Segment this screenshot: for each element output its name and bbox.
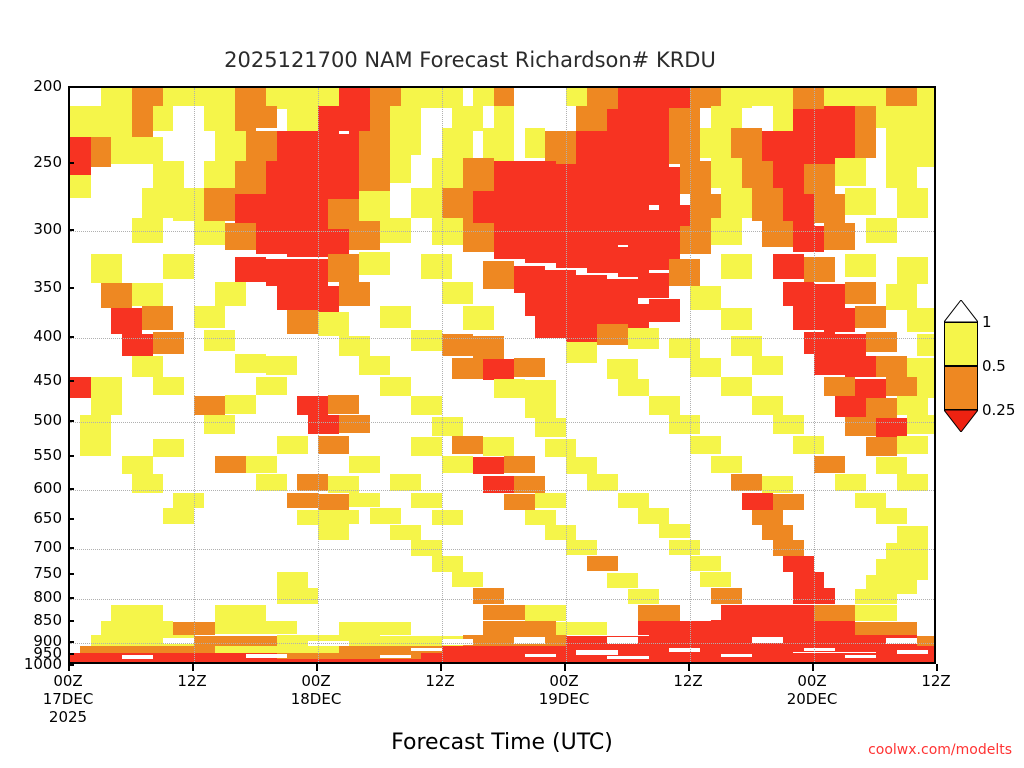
heatmap-cell [638,109,669,133]
heatmap-cell [886,161,917,188]
heatmap-cell [432,88,463,108]
heatmap-cell [638,273,669,299]
heatmap-cell [463,158,494,191]
heatmap-cell [793,226,824,252]
gridline-v [814,88,815,662]
heatmap-cell [897,474,928,491]
heatmap-cell [297,396,328,415]
heatmap-cell [866,332,897,352]
heatmap-cell [855,128,876,159]
heatmap-cell [690,436,721,455]
heatmap-cell [318,494,349,510]
x-tick-mark [68,664,70,671]
heatmap-cell [359,161,390,191]
heatmap-cell [897,436,928,455]
heatmap-cell [721,188,752,218]
heatmap-cell [690,556,721,571]
heatmap-cell [649,396,680,415]
heatmap-cell [359,252,390,275]
heatmap-cell [545,439,576,458]
heatmap-cell [566,88,587,106]
x-tick-mark [192,664,194,671]
heatmap-cell [649,88,690,109]
heatmap-cell [70,137,91,175]
heatmap-cell [773,415,804,434]
heatmap-cell [535,316,566,338]
heatmap-cell [700,128,731,159]
heatmap-cell [535,199,566,238]
heatmap-cell [514,266,545,293]
heatmap-cell [804,648,835,651]
heatmap-cell [91,106,112,137]
heatmap-cell [318,106,349,130]
y-tick-mark [68,573,74,575]
heatmap-cell [339,622,411,635]
heatmap-cell [525,234,556,264]
heatmap-cell [814,284,845,308]
y-tick-label: 450 [0,371,62,389]
heatmap-cell [731,128,762,162]
heatmap-cell [339,134,360,167]
heatmap-cell [566,540,597,555]
heatmap-cell [473,336,504,359]
heatmap-cell [473,457,504,474]
gridline-h [70,422,934,423]
heatmap-cell [762,221,793,248]
heatmap-cell [897,257,928,284]
heatmap-cell [711,158,742,188]
heatmap-cell [824,88,855,106]
heatmap-cell [773,106,794,130]
heatmap-cell [80,415,111,436]
heatmap-cell [587,556,618,571]
heatmap-cell [587,243,618,273]
heatmap-cell [390,474,421,491]
heatmap-cell [91,377,122,395]
heatmap-cell [308,131,339,165]
heatmap-cell [855,605,896,621]
heatmap-cell [421,254,452,279]
heatmap-cell [163,88,194,106]
heatmap-cell [855,106,876,127]
heatmap-cell [235,354,266,373]
heatmap-cell [576,106,607,130]
heatmap-cell [277,572,308,589]
gridline-h [70,549,934,550]
heatmap-cell [390,525,421,540]
heatmap-cell [669,415,700,434]
heatmap-cell [390,128,421,155]
heatmap-cell [752,510,783,525]
heatmap-cell [328,395,359,414]
heatmap-cell [669,540,700,555]
gridline-v [690,88,691,662]
y-tick-label: 600 [0,479,62,497]
heatmap-cell [349,221,380,250]
heatmap-cell [876,508,907,523]
heatmap-cell [411,493,442,509]
heatmap-cell [132,356,163,377]
heatmap-cell [845,655,876,658]
heatmap-cell [793,621,855,635]
y-tick-label: 550 [0,446,62,464]
heatmap-cell [432,158,463,188]
heatmap-cell [587,167,618,207]
heatmap-cell [845,417,876,436]
y-tick-mark [68,547,74,549]
heatmap-cell [370,508,401,523]
chart-title: 2025121700 NAM Forecast Richardson# KRDU [0,48,940,72]
heatmap-cell [587,474,618,491]
heatmap-cell [897,188,928,218]
heatmap-cell [886,377,917,396]
heatmap-cell [886,284,917,310]
heatmap-cell [101,621,173,635]
heatmap-cell [380,377,411,396]
legend-label-025: 0.25 [982,401,1015,419]
heatmap-cell [545,131,576,165]
heatmap-cell [752,356,783,375]
heatmap-cell [804,332,835,354]
heatmap-cell [721,605,762,621]
heatmap-cell [525,605,566,621]
x-axis-title: Forecast Time (UTC) [68,730,936,755]
heatmap-cell [256,474,287,491]
y-tick-label: 1000 [0,655,62,673]
heatmap-cell [442,456,473,473]
heatmap-cell [504,456,535,473]
heatmap-cell [153,106,174,130]
heatmap-cell [866,398,897,418]
heatmap-cell [318,312,349,336]
x-tick-mark [936,664,938,671]
heatmap-cell [514,358,545,377]
watermark: coolwx.com/modelts [868,742,1012,758]
heatmap-cell [793,306,824,330]
heatmap-cell [783,556,814,572]
y-tick-label: 500 [0,411,62,429]
y-tick-label: 850 [0,611,62,629]
heatmap-cell [339,415,370,433]
heatmap-cell [194,636,277,646]
heatmap-cell [783,282,814,307]
heatmap-cell [215,605,267,621]
gridline-h [70,643,934,644]
heatmap-cell [163,508,194,523]
heatmap-cell [742,161,773,188]
heatmap-cell [473,588,504,603]
x-tick-mark [316,664,318,671]
heatmap-cell [566,205,597,243]
heatmap-cell [669,648,700,652]
heatmap-cell [752,637,783,643]
heatmap-cell [380,306,411,328]
heatmap-cell [721,254,752,279]
gridline-v [194,88,195,662]
heatmap-cell [607,573,638,589]
y-tick-mark [68,336,74,338]
heatmap-cell [649,645,773,652]
gridline-h [70,231,934,232]
heatmap-cell [494,88,515,106]
heatmap-cell [328,510,359,524]
heatmap-cell [297,259,328,286]
heatmap-cell [287,310,318,334]
heatmap-cell [411,648,442,652]
x-tick-label: 12Z [425,672,454,690]
heatmap-cell [773,254,804,279]
heatmap-cell [814,456,845,473]
heatmap-cell [452,436,483,455]
heatmap-cell [142,306,173,330]
heatmap-cell [607,359,638,378]
heatmap-cell [401,88,432,108]
x-tick-label: 12Z [673,672,702,690]
heatmap-cell [256,377,287,395]
y-tick-mark [68,518,74,520]
heatmap-cell [680,226,711,254]
legend-swatch-05 [944,366,978,410]
heatmap-cell [266,259,297,286]
heatmap-cell [142,188,173,218]
heatmap-cell [793,109,824,136]
heatmap-cell [235,161,266,194]
heatmap-cell [204,188,235,220]
heatmap-cell [297,510,328,525]
heatmap-cell [824,106,855,130]
heatmap-cell [132,218,163,243]
y-tick-mark [68,287,74,289]
heatmap-cell [545,525,576,540]
heatmap-cell [70,106,91,137]
heatmap-cell [731,474,762,491]
y-tick-label: 750 [0,564,62,582]
heatmap-cell [669,259,700,286]
heatmap-cell [886,88,917,106]
heatmap-cell [432,510,463,525]
y-tick-mark [68,620,74,622]
x-tick-mark [440,664,442,671]
heatmap-cell [204,106,235,130]
heatmap-cell [752,188,783,220]
heatmap-cell [690,88,721,108]
heatmap-cell [597,207,628,245]
heatmap-cell [432,556,463,572]
heatmap-cell [618,88,649,109]
heatmap-cell [711,106,742,127]
heatmap-cell [122,655,153,658]
heatmap-cell [917,131,936,167]
heatmap-cell [463,223,494,252]
heatmap-cell [917,379,936,398]
heatmap-cell [452,358,483,379]
heatmap-cell [194,306,225,328]
heatmap-cell [287,493,318,509]
heatmap-cell [91,395,122,415]
heatmap-cell [494,229,525,259]
heatmap-cell [256,106,277,127]
color-legend: 1 0.5 0.25 [944,300,978,455]
heatmap-cell [111,308,142,334]
y-tick-mark [68,653,74,655]
heatmap-cell [897,650,928,654]
heatmap-cell [483,359,514,380]
heatmap-cell [225,395,256,414]
heatmap-cell [855,379,886,398]
heatmap-cell [370,88,401,106]
heatmap-cell [411,437,442,456]
heatmap-cell [917,636,936,646]
heatmap-cell [638,605,679,621]
x-tick-label: 00Z19DEC [539,672,590,708]
x-tick-label: 00Z20DEC [787,672,838,708]
heatmap-cell [153,439,184,458]
y-tick-mark [68,420,74,422]
heatmap-cell [855,589,896,604]
heatmap-cell [845,356,876,377]
plot-area [68,86,936,664]
heatmap-cell [907,308,936,332]
heatmap-cell [525,654,556,657]
heatmap-cell [618,493,649,509]
heatmap-cell [204,415,235,434]
heatmap-cell [359,191,390,221]
heatmap-cell [504,494,535,510]
heatmap-cell [897,396,928,415]
heatmap-cell [132,111,153,137]
heatmap-cell [163,254,194,279]
heatmap-cell [638,621,710,635]
gridline-h [70,490,934,491]
heatmap-cell [556,622,608,635]
heatmap-cell [297,161,328,196]
heatmap-cell [793,88,824,109]
heatmap-cell [463,306,494,330]
x-tick-label: 00Z17DEC2025 [43,672,94,726]
heatmap-cell [525,128,546,159]
heatmap-cell [132,137,163,164]
y-tick-mark [68,229,74,231]
heatmap-cell [855,306,886,328]
heatmap-cell [173,188,204,220]
y-tick-mark [68,641,74,643]
heatmap-cell [308,415,339,434]
heatmap-cell [380,655,411,658]
heatmap-cell [669,131,700,165]
heatmap-cell [432,417,463,436]
gridline-v [566,88,567,662]
heatmap-cell [721,377,752,396]
heatmap-cell [204,161,235,188]
heatmap-cell [525,161,556,199]
heatmap-cell [711,588,742,603]
heatmap-cell [793,572,824,589]
heatmap-cell [494,379,525,398]
heatmap-cell [235,194,266,226]
heatmap-cell [762,131,793,165]
heatmap-cell [246,654,287,658]
heatmap-cell [246,456,277,473]
heatmap-cell [91,254,122,283]
heatmap-cell [814,354,845,375]
heatmap-cell [711,456,742,473]
y-tick-label: 200 [0,77,62,95]
heatmap-cell [721,654,752,657]
legend-above-outline [944,300,978,322]
heatmap-cell [845,254,876,277]
heatmap-cell [876,106,907,127]
heatmap-cell [618,379,649,397]
heatmap-cell [835,158,866,186]
heatmap-cell [762,605,814,622]
heatmap-cell [525,380,556,399]
heatmap-cell [111,134,132,165]
heatmap-cell [866,437,897,456]
heatmap-cell [525,510,556,525]
heatmap-cell [349,456,380,473]
heatmap-cell [266,161,297,199]
heatmap-cell [804,257,835,282]
legend-below-range [944,410,978,432]
heatmap-cell [855,493,886,509]
heatmap-cell [473,88,494,106]
heatmap-cell [742,493,773,510]
x-tick-mark [688,664,690,671]
heatmap-cell [70,659,936,664]
heatmap-cell [824,308,855,332]
heatmap-cell [111,605,163,622]
heatmap-cell [483,437,514,456]
heatmap-cell [70,175,91,198]
heatmap-cell [370,106,391,130]
heatmap-cell [535,493,566,509]
heatmap-cell [452,572,483,588]
heatmap-cell [659,524,690,539]
heatmap-cell [215,456,246,473]
heatmap-cell [607,134,638,170]
heatmap-cell [876,356,907,377]
heatmap-cell [649,299,680,323]
heatmap-cell [390,155,411,183]
heatmap-cell [897,526,928,543]
legend-label-1: 1 [982,313,992,331]
heatmap-cell [907,358,936,379]
heatmap-cell [173,493,204,509]
heatmap-cell [618,170,649,210]
heatmap-cell [122,456,153,475]
y-tick-label: 350 [0,278,62,296]
heatmap-cell [607,109,638,133]
heatmap-cell [525,293,556,317]
y-tick-mark [68,380,74,382]
heatmap-cell [845,188,876,215]
heatmap-cell [835,396,866,416]
legend-label-05: 0.5 [982,357,1006,375]
heatmap-cell [824,223,855,249]
heatmap-cell [680,161,711,194]
heatmap-cell [153,161,184,188]
heatmap-cell [442,282,473,305]
heatmap-cell [339,282,370,307]
heatmap-cell [277,436,308,455]
heatmap-cell [483,621,555,635]
heatmap-cell [349,493,380,507]
y-tick-label: 300 [0,220,62,238]
heatmap-cell [390,106,421,127]
heatmap-cell [194,396,225,415]
y-tick-mark [68,597,74,599]
heatmap-cell [638,134,669,170]
